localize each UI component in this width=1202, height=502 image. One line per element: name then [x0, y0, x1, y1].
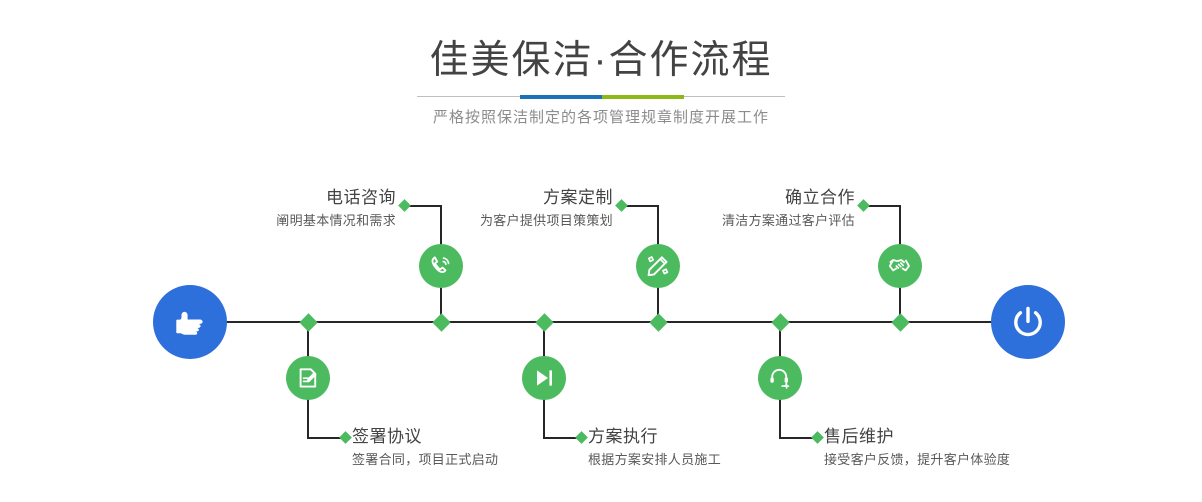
- page-subtitle: 严格按照保洁制定的各项管理规章制度开展工作: [0, 106, 1202, 130]
- axis-marker-4: [535, 313, 553, 331]
- step-desc-4: 根据方案安排人员施工: [588, 449, 813, 471]
- step-desc-5: 清洁方案通过客户评估: [693, 210, 855, 232]
- title-divider: [417, 95, 785, 99]
- step-label-1: 电话咨询 阐明基本情况和需求: [243, 186, 396, 232]
- step-desc-6: 接受客户反馈，提升客户体验度: [824, 449, 1084, 471]
- flow-start-node[interactable]: [153, 285, 227, 359]
- divider-blue-segment: [520, 95, 602, 99]
- step-label-marker-6: [811, 431, 824, 444]
- step-title-5: 确立合作: [693, 186, 855, 210]
- flow-end-node[interactable]: [991, 285, 1065, 359]
- axis-marker-3: [649, 313, 667, 331]
- pencil-ruler-icon: [645, 253, 671, 279]
- divider-green-segment: [602, 95, 684, 99]
- axis-marker-1: [432, 313, 450, 331]
- step-node-2[interactable]: [286, 356, 330, 400]
- phone-call-icon: [428, 253, 454, 279]
- step-node-3[interactable]: [636, 244, 680, 288]
- step-label-6: 售后维护 接受客户反馈，提升客户体验度: [824, 425, 1084, 471]
- page-title: 佳美保洁·合作流程: [0, 38, 1202, 84]
- axis-marker-5: [891, 313, 909, 331]
- step-title-6: 售后维护: [824, 425, 1084, 449]
- step-desc-2: 签署合同，项目正式启动: [352, 449, 582, 471]
- hand-point-right-icon: [170, 302, 210, 342]
- handshake-icon: [887, 253, 913, 279]
- process-flow-infographic: 佳美保洁·合作流程 严格按照保洁制定的各项管理规章制度开展工作: [0, 0, 1202, 502]
- step-label-marker-3: [615, 199, 628, 212]
- step-title-3: 方案定制: [455, 186, 613, 210]
- headset-support-icon: [767, 365, 793, 391]
- step-label-marker-5: [857, 199, 870, 212]
- step-desc-3: 为客户提供项目策策划: [455, 210, 613, 232]
- play-execute-icon: [531, 365, 557, 391]
- axis-marker-2: [299, 313, 317, 331]
- step-label-2: 签署协议 签署合同，项目正式启动: [352, 425, 582, 471]
- step-node-6[interactable]: [758, 356, 802, 400]
- step-label-3: 方案定制 为客户提供项目策策划: [455, 186, 613, 232]
- step-node-5[interactable]: [878, 244, 922, 288]
- step-label-marker-1: [398, 199, 411, 212]
- step-label-marker-2: [339, 431, 352, 444]
- signature-document-icon: [295, 365, 321, 391]
- step-label-5: 确立合作 清洁方案通过客户评估: [693, 186, 855, 232]
- step-title-1: 电话咨询: [243, 186, 396, 210]
- axis-marker-6: [771, 313, 789, 331]
- step-desc-1: 阐明基本情况和需求: [243, 210, 396, 232]
- power-icon: [1007, 301, 1049, 343]
- step-node-1[interactable]: [419, 244, 463, 288]
- step-node-4[interactable]: [522, 356, 566, 400]
